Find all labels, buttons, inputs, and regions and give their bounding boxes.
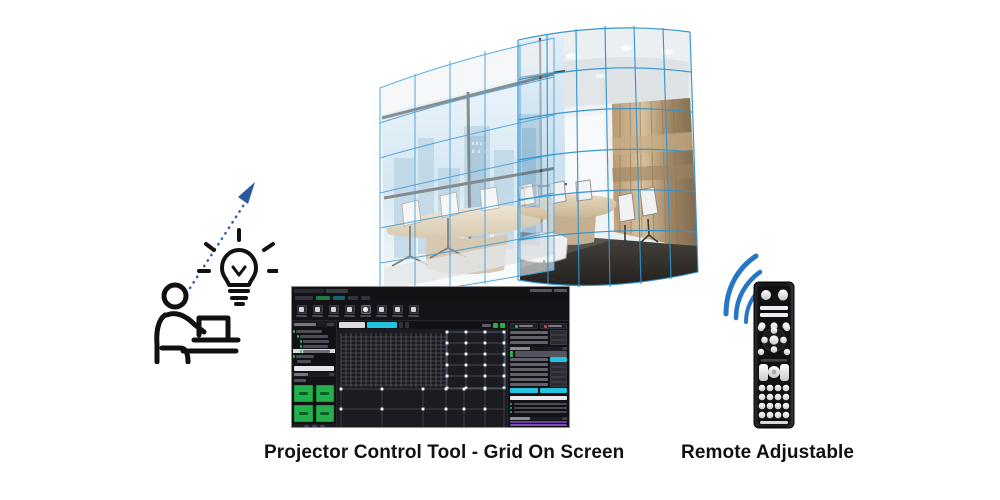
log-line <box>510 407 567 410</box>
grid-selection-box <box>447 332 505 388</box>
keypad-button[interactable] <box>783 403 790 410</box>
properties-tab[interactable] <box>540 323 568 329</box>
keypad-button[interactable] <box>775 385 782 392</box>
keypad-button[interactable] <box>767 385 774 392</box>
keypad-button[interactable] <box>775 403 782 410</box>
fine-grid <box>341 333 446 387</box>
canvas-tab-mini[interactable] <box>405 322 409 328</box>
caption-remote-adjustable: Remote Adjustable <box>681 442 854 464</box>
corner-button[interactable] <box>784 325 790 331</box>
toolbar-button[interactable] <box>295 302 308 319</box>
warp-preset-button[interactable] <box>294 405 313 422</box>
input-bar-button[interactable] <box>760 313 788 317</box>
illustration-stage: Projector Control Tool - Grid On Screen … <box>0 0 1000 500</box>
log-line <box>510 403 567 406</box>
corner-button[interactable] <box>758 349 764 355</box>
app-menubar[interactable] <box>292 294 569 301</box>
toolbar-button[interactable] <box>391 302 404 319</box>
tree-node[interactable] <box>293 359 335 363</box>
menu-item[interactable] <box>295 296 313 300</box>
properties-panel[interactable] <box>507 321 569 428</box>
keypad-button[interactable] <box>759 412 766 419</box>
tree-node[interactable] <box>293 329 335 333</box>
tree-node[interactable] <box>293 334 335 338</box>
canvas-tab-active[interactable] <box>367 322 397 328</box>
caption-projector-control-tool: Projector Control Tool - Grid On Screen <box>264 442 624 464</box>
keypad-button[interactable] <box>783 412 790 419</box>
dpad-right-button[interactable] <box>780 337 787 344</box>
titlebar-right <box>530 289 567 292</box>
source-button[interactable] <box>778 290 788 301</box>
log-line <box>510 411 567 414</box>
menu-item-active[interactable] <box>316 296 330 300</box>
warp-preset-button[interactable] <box>316 405 335 422</box>
property-row[interactable] <box>508 340 569 345</box>
warp-section-header <box>292 372 336 377</box>
left-panel-footer <box>292 424 336 428</box>
app-body <box>292 321 569 428</box>
arrow-head-icon <box>238 182 255 204</box>
canvas-status <box>482 323 505 328</box>
dpad-left-button[interactable] <box>761 337 768 344</box>
keypad-button[interactable] <box>759 403 766 410</box>
toolbar-button[interactable] <box>343 302 356 319</box>
tree-node[interactable] <box>293 344 335 348</box>
tree-node-selected[interactable] <box>293 349 335 353</box>
titlebar-chip <box>294 289 324 293</box>
control-points <box>446 331 506 390</box>
toolbar-button[interactable] <box>407 302 420 319</box>
menu-item[interactable] <box>333 296 345 300</box>
volume-rocker[interactable] <box>759 364 768 381</box>
ir-remote-control[interactable] <box>716 248 828 430</box>
list-scrollbar[interactable] <box>294 366 334 370</box>
console-line <box>510 421 567 423</box>
dpad-down-button[interactable] <box>771 346 778 353</box>
keypad-button[interactable] <box>775 394 782 401</box>
console-section-header <box>508 417 569 421</box>
dpad-up-button[interactable] <box>771 327 778 334</box>
reset-button[interactable] <box>540 388 568 393</box>
console-line <box>510 424 567 426</box>
warp-grid-canvas[interactable] <box>337 329 507 428</box>
value-input-field[interactable] <box>510 396 567 400</box>
projection-scene-left <box>368 18 568 310</box>
grid-canvas-panel[interactable] <box>337 321 507 428</box>
keypad-button[interactable] <box>783 385 790 392</box>
menu-bar-button[interactable] <box>760 306 788 310</box>
channel-rocker[interactable] <box>780 364 789 381</box>
projector-control-tool-window[interactable] <box>291 286 570 428</box>
toolbar-button[interactable] <box>311 302 324 319</box>
menu-item[interactable] <box>361 296 370 300</box>
app-toolbar[interactable] <box>292 301 569 321</box>
status-log <box>508 402 569 415</box>
keypad-button[interactable] <box>759 385 766 392</box>
toolbar-button-grid-active[interactable] <box>359 302 372 319</box>
corner-button[interactable] <box>758 325 764 331</box>
apply-buttons[interactable] <box>508 387 569 394</box>
titlebar-label <box>554 289 567 292</box>
toolbar-button[interactable] <box>327 302 340 319</box>
warped-projection-mesh <box>368 18 712 310</box>
person-at-laptop-with-idea <box>152 168 278 364</box>
keypad-button[interactable] <box>767 412 774 419</box>
properties-tabs[interactable] <box>508 321 569 330</box>
bottom-bar-button[interactable] <box>760 421 788 424</box>
properties-tab[interactable] <box>510 323 538 329</box>
warp-preset-button[interactable] <box>316 385 335 402</box>
warp-label <box>294 379 306 382</box>
keypad-button[interactable] <box>767 394 774 401</box>
power-button[interactable] <box>761 290 771 300</box>
canvas-tab[interactable] <box>339 322 365 328</box>
dpad-ok-button[interactable] <box>769 335 778 344</box>
titlebar-chip-active <box>326 289 348 293</box>
toolbar-button[interactable] <box>375 302 388 319</box>
label-strip <box>761 359 787 362</box>
corner-button[interactable] <box>784 349 790 355</box>
app-titlebar <box>292 287 569 294</box>
keypad-button[interactable] <box>767 403 774 410</box>
console-line <box>510 427 567 429</box>
lower-control-points <box>340 388 487 411</box>
canvas-tabs[interactable] <box>337 321 507 329</box>
tree-node[interactable] <box>293 354 335 358</box>
keypad-button[interactable] <box>775 412 782 419</box>
projector-list-panel[interactable] <box>292 321 337 428</box>
apply-button[interactable] <box>510 388 538 393</box>
titlebar-label <box>530 289 552 292</box>
warp-preset-buttons[interactable] <box>292 383 336 424</box>
lightbulb-icon <box>199 230 278 304</box>
mute-icon <box>772 370 777 375</box>
coarse-grid <box>447 332 504 388</box>
keypad-button[interactable] <box>759 394 766 401</box>
tree-node[interactable] <box>293 339 335 343</box>
keypad-button[interactable] <box>783 394 790 401</box>
warp-preset-button[interactable] <box>294 385 313 402</box>
canvas-tab-mini[interactable] <box>399 322 403 328</box>
menu-item[interactable] <box>348 296 358 300</box>
projector-tree[interactable] <box>292 327 336 365</box>
